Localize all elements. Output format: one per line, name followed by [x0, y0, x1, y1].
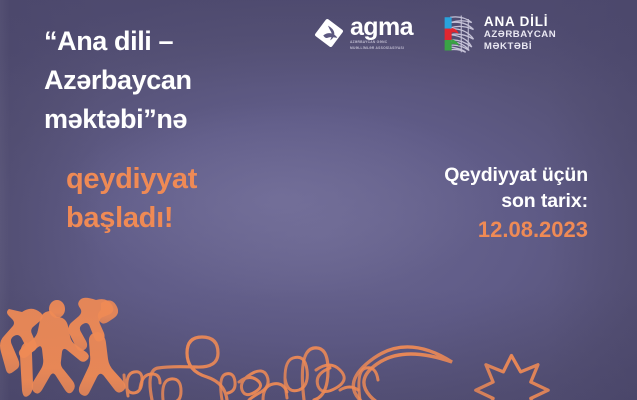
calligraphy-strokes	[124, 337, 358, 400]
agma-logo[interactable]: agma AZƏRBAYCAN GƏNC MÜƏLLİMLƏR ASSOSİAS…	[314, 16, 413, 51]
agma-subtitle-line1: AZƏRBAYCAN GƏNC	[350, 40, 413, 45]
subheadline-line-1: qeydiyyat	[66, 160, 197, 199]
deadline-block: Qeydiyyat üçün son tarix: 12.08.2023	[444, 163, 588, 245]
ana-dili-flag-book-emblem-icon	[435, 12, 477, 54]
deadline-label-line2: son tarix:	[444, 189, 588, 215]
agma-wordmark: agma	[350, 16, 413, 39]
crescent-moon	[353, 347, 452, 400]
headline-line-2: Azərbaycan	[44, 61, 306, 100]
deadline-label-line1: Qeydiyyat üçün	[444, 163, 588, 189]
petroglyph-figure-3	[68, 298, 125, 396]
subheadline-line-2: başladı!	[66, 199, 197, 238]
subheadline: qeydiyyat başladı!	[66, 160, 197, 238]
eight-pointed-star	[476, 356, 548, 400]
deadline-date: 12.08.2023	[444, 216, 588, 245]
logo-row: agma AZƏRBAYCAN GƏNC MÜƏLLİMLƏR ASSOSİAS…	[314, 8, 556, 58]
agma-diamond-swirl-icon	[314, 18, 344, 48]
ana-dili-line2: AZƏRBAYCAN	[484, 29, 556, 40]
ana-dili-line3: MƏKTƏBİ	[484, 41, 556, 52]
headline: “Ana dili – Azərbaycan məktəbi”nə	[44, 22, 306, 139]
promotional-banner: agma AZƏRBAYCAN GƏNC MÜƏLLİMLƏR ASSOSİAS…	[0, 0, 637, 400]
ana-dili-line1: ANA DİLİ	[484, 14, 556, 29]
decorative-artwork	[0, 270, 637, 400]
headline-line-1: “Ana dili –	[44, 22, 306, 61]
headline-line-3: məktəbi”nə	[44, 100, 306, 139]
ana-dili-logo[interactable]: ANA DİLİ AZƏRBAYCAN MƏKTƏBİ	[435, 12, 556, 54]
agma-subtitle-line2: MÜƏLLİMLƏR ASSOSİASİYASI	[350, 46, 413, 51]
